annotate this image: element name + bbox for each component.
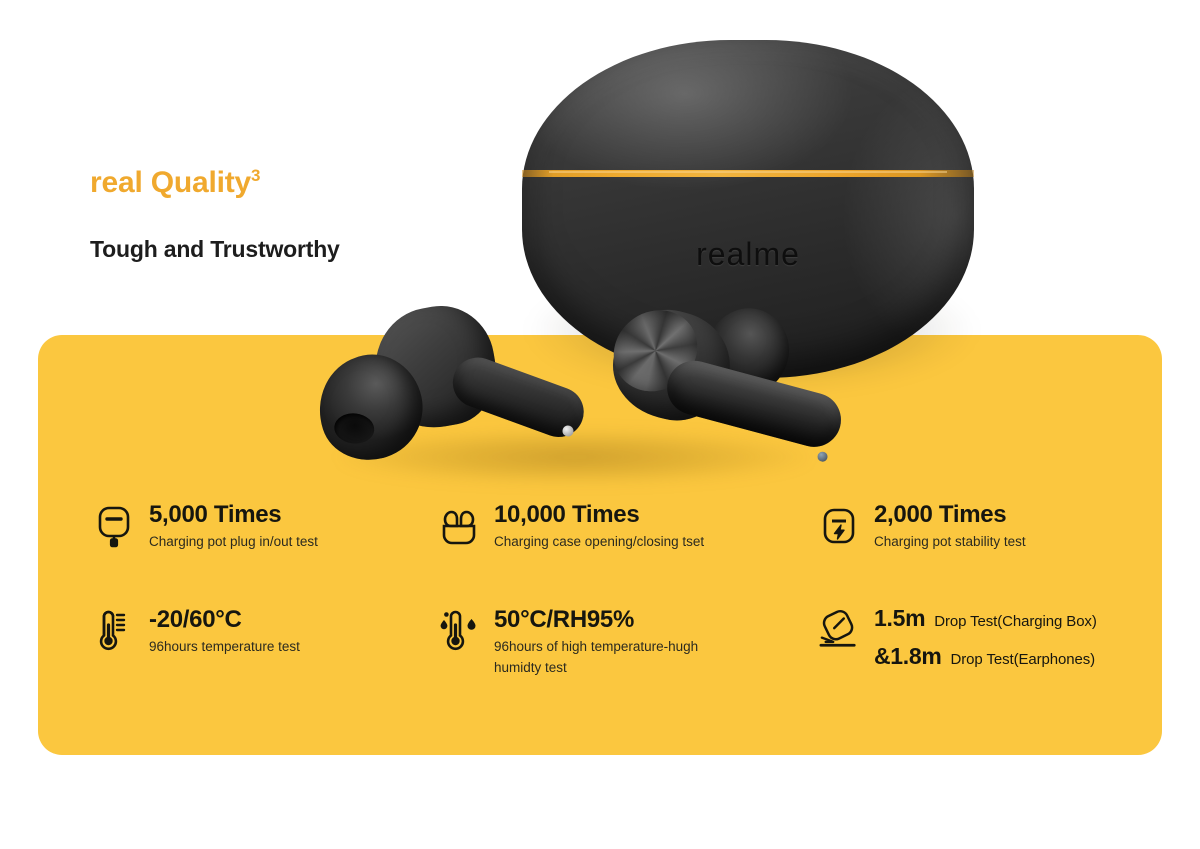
stat-value: 5,000 Times [149,501,281,528]
stat-item: 5,000 Times Charging pot plug in/out tes… [93,500,438,605]
case-accent-stripe [522,170,974,177]
drop-test-value: 1.5m [874,605,925,632]
page-subtitle: Tough and Trustworthy [90,198,340,263]
stats-grid: 5,000 Times Charging pot plug in/out tes… [38,500,1162,750]
stat-label: Charging pot stability test [874,529,1026,553]
charging-case: realme [522,40,974,378]
stat-item: 10,000 Times Charging case opening/closi… [438,500,818,605]
stat-item-drop-test: 1.5m Drop Test(Charging Box) &1.8m Drop … [818,605,1162,750]
realme-logo: realme [522,236,974,273]
stat-label: 96hours of high temperature-hugh humidty… [494,634,744,679]
stat-label: Charging case opening/closing tset [494,529,704,553]
drop-test-value: &1.8m [874,643,942,670]
drop-test-label: Drop Test(Charging Box) [934,613,1097,630]
case-lightning-icon [818,504,860,550]
charging-case-plug-icon [93,504,135,550]
stat-text: 1.5m Drop Test(Charging Box) &1.8m Drop … [874,605,1097,670]
stat-label: Charging pot plug in/out test [149,529,318,553]
page-title-superscript: 3 [251,166,260,185]
stat-text: 2,000 Times Charging pot stability test [874,500,1026,553]
drop-test-label: Drop Test(Earphones) [951,651,1095,668]
stat-item: 2,000 Times Charging pot stability test [818,500,1162,605]
heading-block: real Quality3 Tough and Trustworthy [90,168,340,263]
drop-test-line: &1.8m Drop Test(Earphones) [874,632,1097,670]
page-title: real Quality3 [90,168,340,198]
marketing-banner: real Quality3 Tough and Trustworthy real… [0,0,1200,849]
open-case-earbuds-icon [438,504,480,550]
drop-test-icon [818,607,860,653]
stat-value: 2,000 Times [874,501,1006,528]
stat-value: 10,000 Times [494,501,639,528]
stat-text: 5,000 Times Charging pot plug in/out tes… [149,500,318,553]
thermometer-icon [93,607,135,653]
thermometer-humidity-icon [438,607,480,653]
stat-text: 50°C/RH95% 96hours of high temperature-h… [494,605,744,679]
drop-test-line: 1.5m Drop Test(Charging Box) [874,605,1097,632]
stat-item: -20/60°C 96hours temperature test [93,605,438,750]
stat-text: -20/60°C 96hours temperature test [149,605,300,658]
stat-label: 96hours temperature test [149,634,300,658]
stat-value: 50°C/RH95% [494,606,634,633]
stat-text: 10,000 Times Charging case opening/closi… [494,500,704,553]
stat-item: 50°C/RH95% 96hours of high temperature-h… [438,605,818,750]
page-title-text: real Quality [90,166,251,199]
stat-value: -20/60°C [149,606,242,633]
